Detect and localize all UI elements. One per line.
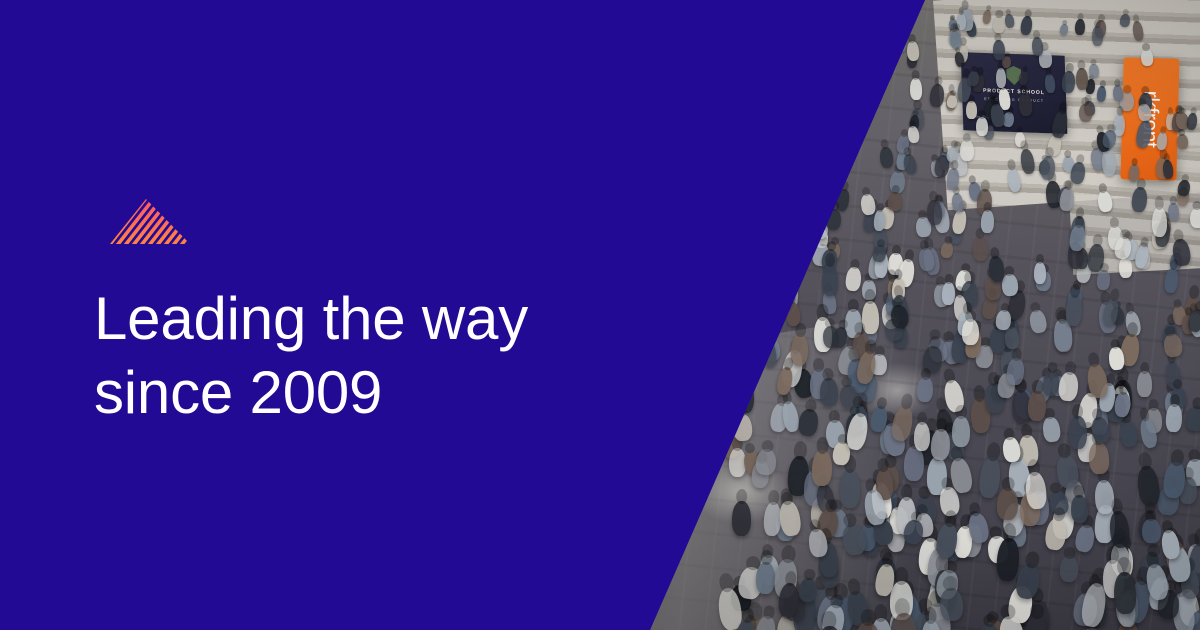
crowd-person <box>981 209 994 233</box>
crowd-person <box>1088 441 1110 474</box>
crowd-person <box>839 469 859 508</box>
crowd-person <box>903 446 924 481</box>
crowd-person <box>1184 405 1200 433</box>
crowd-person <box>951 208 968 235</box>
crowd-person <box>982 10 992 25</box>
crowd-person <box>1065 295 1083 326</box>
crowd-person <box>939 588 964 623</box>
crowd-person <box>1032 36 1044 56</box>
crowd-person <box>1062 71 1077 93</box>
crowd-person <box>1019 15 1032 35</box>
crowd-person <box>1018 92 1033 116</box>
crowd-person <box>845 266 862 291</box>
crowd-person <box>775 366 794 396</box>
crowd-person <box>960 140 974 161</box>
crowd-person <box>1132 21 1145 42</box>
crowd-person <box>1089 64 1099 79</box>
crowd-person <box>1131 186 1148 213</box>
crowd-person <box>1135 119 1154 149</box>
crowd-person <box>1101 148 1117 177</box>
crowd-person <box>1168 203 1180 221</box>
crowd-person <box>1096 269 1110 290</box>
crowd-person <box>819 378 838 407</box>
crowd-person <box>995 68 1006 88</box>
crowd-person <box>941 281 955 304</box>
crowd-person <box>996 487 1018 519</box>
crowd-person <box>1156 131 1168 150</box>
page-title: Leading the way since 2009 <box>94 282 714 431</box>
crowd-person <box>1140 48 1154 66</box>
crowd-person <box>951 193 964 213</box>
crowd-person <box>1113 572 1136 614</box>
crowd-person <box>1165 403 1182 431</box>
crowd-person <box>1119 13 1130 27</box>
crowd-person <box>887 192 902 212</box>
crowd-person <box>951 416 969 447</box>
crowd-person <box>1058 371 1080 402</box>
crowd-person <box>988 255 1005 282</box>
crowd-person <box>1019 148 1036 175</box>
crowd-person <box>1074 524 1097 554</box>
crowd-person <box>1137 371 1152 397</box>
crowd-person <box>1128 163 1139 181</box>
mountain-stripes-logo <box>110 199 190 244</box>
crowd-person <box>1018 70 1030 86</box>
crowd-person <box>1164 268 1180 294</box>
crowd-person <box>1097 190 1114 213</box>
crowd-person <box>946 94 958 108</box>
crowd-person <box>1043 73 1055 93</box>
crowd-person <box>1075 68 1088 90</box>
crowd-person <box>732 500 751 535</box>
crowd-person <box>755 448 777 476</box>
crowd-person <box>1054 321 1072 351</box>
crowd-person <box>940 241 954 259</box>
crowd-person <box>972 237 987 261</box>
crowd-person <box>1071 494 1089 523</box>
crowd-person <box>914 422 931 451</box>
crowd-person <box>1092 26 1103 46</box>
crowd-person <box>992 40 1005 61</box>
crowd-person <box>1078 104 1093 123</box>
crowd-person <box>966 101 977 119</box>
crowd-person <box>1042 416 1062 443</box>
crowd-person <box>860 193 877 215</box>
headline-line-1: Leading the way <box>94 282 714 356</box>
crowd-person <box>993 15 1005 32</box>
crowd-person <box>906 41 920 62</box>
crowd-person <box>1027 391 1046 422</box>
crowd-person <box>1113 113 1125 135</box>
crowd-person <box>902 153 918 175</box>
crowd-person <box>926 200 943 226</box>
crowd-person <box>822 264 838 296</box>
crowd-person <box>1007 167 1023 193</box>
crowd-person <box>1118 419 1139 448</box>
crowd-person <box>962 319 979 345</box>
crowd-person <box>756 562 776 595</box>
crowd-person <box>1028 309 1048 334</box>
crowd-person <box>1185 112 1198 131</box>
crowd-person <box>1189 207 1200 228</box>
crowd-person <box>1004 13 1014 28</box>
crowd-person <box>917 377 934 403</box>
crowd-person <box>1025 471 1048 510</box>
crowd-person <box>1069 415 1087 448</box>
crowd-person <box>1162 160 1174 179</box>
crowd-person <box>1001 436 1021 463</box>
crowd-person <box>1113 85 1124 101</box>
crowd-person <box>975 117 987 136</box>
crowd-person <box>811 449 832 485</box>
crowd-person <box>1136 464 1162 507</box>
crowd-person <box>1142 518 1162 543</box>
promo-banner: PRODUCT SCHOOL EDUCATING PRODUCT The Pro… <box>0 0 1200 630</box>
crowd-person <box>1060 556 1079 582</box>
crowd-person <box>1034 262 1046 284</box>
crowd-person <box>1050 110 1068 139</box>
headline-line-2: since 2009 <box>94 356 714 430</box>
crowd-person <box>1059 24 1068 36</box>
crowd-person <box>1108 510 1131 549</box>
crowd-person <box>910 78 923 100</box>
crowd-person <box>1096 85 1107 102</box>
crowd-person <box>1074 19 1085 36</box>
crowd-person <box>1176 133 1189 149</box>
crowd-person <box>797 407 820 436</box>
crowd-person <box>1163 333 1184 359</box>
crowd-person <box>1043 516 1067 551</box>
crowd-person <box>929 84 945 108</box>
crowd-person <box>1176 179 1190 196</box>
crowd-person <box>879 146 894 168</box>
